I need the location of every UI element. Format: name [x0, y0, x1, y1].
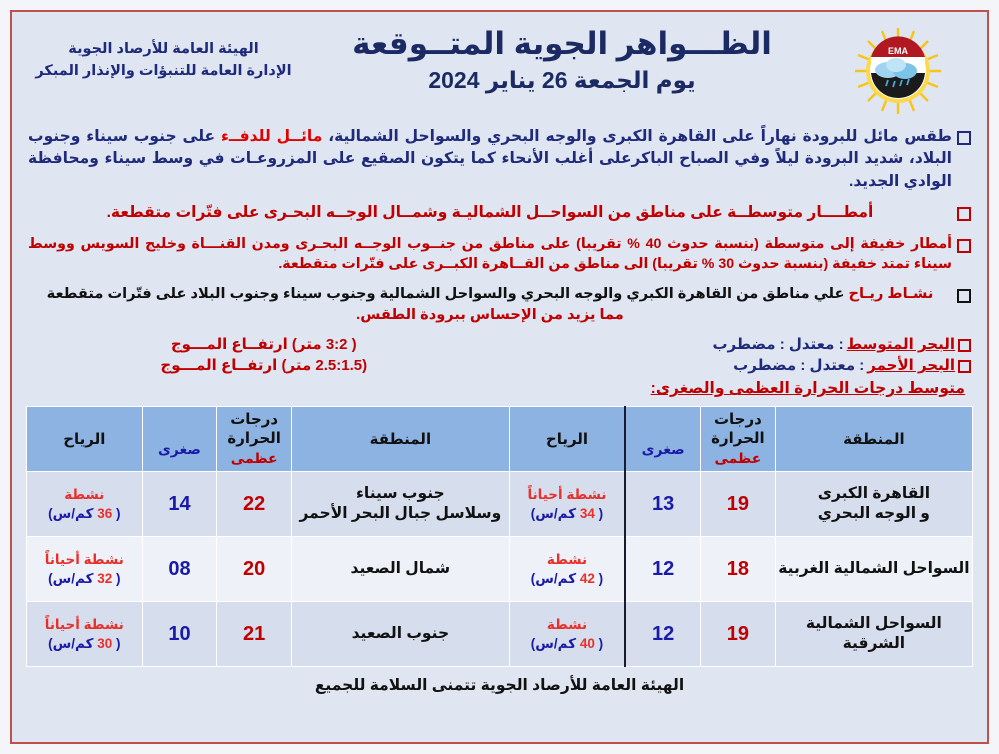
region-line-1: القاهرة الكبرى	[818, 485, 930, 502]
bullet-temperature: طقس مائل للبرودة نهاراً على القاهرة الكب…	[28, 126, 971, 193]
header-min-right: صغرى	[625, 407, 700, 472]
cell-min-right: 13	[625, 472, 700, 537]
wind-state: نشطة	[511, 616, 624, 634]
bullet-checkbox-icon	[958, 339, 971, 352]
wind-state: نشطة أحياناً	[28, 551, 141, 569]
header-temps-label-left: درجات الحرارة	[218, 411, 290, 449]
cell-wind-left: نشطة أحياناً ( 30 كم/س)	[27, 602, 143, 667]
org-line-1: الهيئة العامة للأرصاد الجوية	[26, 38, 301, 60]
cell-min-left: 10	[142, 602, 217, 667]
wind-speed-unit: كم/س	[53, 571, 94, 586]
sea-row-red: البحر الأحمر : معتدل : مضطرب (2.5:1.5 مت…	[28, 356, 971, 374]
wind-speed: ( 34 كم/س)	[511, 505, 624, 523]
wind-speed: ( 30 كم/س)	[28, 635, 141, 653]
forecast-table: المنطقة درجات الحرارة عظمى صغرى	[26, 406, 973, 667]
bullet-checkbox-icon	[957, 207, 971, 221]
header-min-label-right: صغرى	[642, 441, 685, 457]
cell-max-right: 19	[701, 602, 776, 667]
bullet-temperature-part1: طقس مائل للبرودة نهاراً على القاهرة الكب…	[322, 128, 952, 145]
sea-mediterranean-state: : معتدل : مضطرب	[712, 335, 843, 353]
bullet-list: طقس مائل للبرودة نهاراً على القاهرة الكب…	[22, 126, 977, 326]
cell-wind-right: نشطة أحياناً ( 34 كم/س)	[509, 472, 625, 537]
bullet-temperature-highlight: مائــل للدفــء	[221, 128, 322, 145]
header-max-right: درجات الحرارة عظمى	[701, 407, 776, 472]
sea-red-wave: (2.5:1.5 متر) ارتفــاع المـــوج	[28, 356, 500, 374]
sea-red-info: البحر الأحمر : معتدل : مضطرب	[500, 356, 972, 374]
wind-speed-number: 42	[580, 571, 595, 586]
wind-speed-number: 30	[97, 636, 112, 651]
header-region-right: المنطقة	[775, 407, 972, 472]
sea-conditions: البحر المتوسط : معتدل : مضطرب ( 3:2 متر)…	[22, 335, 977, 398]
bullet-rain-light-line2: تمتد خفيفة (بنسبة حدوث 30 % تقريبا) الى …	[278, 256, 910, 272]
cell-wind-left: نشطة ( 36 كم/س)	[27, 472, 143, 537]
bullet-checkbox-icon	[957, 239, 971, 253]
bullet-rain-light-text: أمطار خفيفة إلى متوسطة (بنسبة حدوث 40 % …	[28, 234, 952, 275]
bullet-wind-text: نشـاط ريـاح علي مناطق من القاهرة الكبري …	[28, 284, 952, 326]
wind-speed-unit: كم/س	[535, 506, 576, 521]
wind-speed-number: 36	[97, 506, 112, 521]
wind-speed-unit: كم/س	[53, 506, 94, 521]
bullet-checkbox-icon	[957, 131, 971, 145]
cell-region-right: السواحل الشمالية الغربية	[775, 537, 972, 602]
region-line-1: السواحل الشمالية الشرقية	[806, 615, 942, 652]
bullet-rain-moderate: أمطــــار متوسطــة على مناطق من السواحــ…	[28, 202, 971, 224]
cell-region-left: شمال الصعيد	[292, 537, 510, 602]
sea-mediterranean-info: البحر المتوسط : معتدل : مضطرب	[500, 335, 972, 353]
sea-mediterranean-wave-label: ارتفــاع المـــوج	[171, 336, 288, 353]
sea-red-wave-value: (2.5:1.5 متر)	[282, 357, 368, 374]
wind-speed-unit: كم/س	[53, 636, 94, 651]
bullet-checkbox-icon	[957, 289, 971, 303]
cell-wind-right: نشطة ( 40 كم/س)	[509, 602, 625, 667]
cell-max-left: 22	[217, 472, 292, 537]
header-region-left: المنطقة	[292, 407, 510, 472]
header-max-left: درجات الحرارة عظمى	[217, 407, 292, 472]
header-wind-right: الرياح	[509, 407, 625, 472]
table-row: القاهرة الكبرى و الوجه البحري 19 13 نشطة…	[27, 472, 973, 537]
region-line-1: جنوب الصعيد	[352, 625, 450, 642]
cell-region-left: جنوب سيناء وسلاسل جبال البحر الأحمر	[292, 472, 510, 537]
temperature-section-heading: متوسط درجات الحرارة العظمى والصغرى:	[28, 377, 971, 398]
page-subtitle: يوم الجمعة 26 يناير 2024	[301, 66, 823, 96]
wind-speed-unit: كم/س	[535, 571, 576, 586]
header-wind-left: الرياح	[27, 407, 143, 472]
table-row: السواحل الشمالية الشرقية 19 12 نشطة ( 40…	[27, 602, 973, 667]
region-line-2: وسلاسل جبال البحر الأحمر	[299, 505, 501, 522]
temperature-section-heading-text: متوسط درجات الحرارة العظمى والصغرى:	[651, 380, 965, 397]
ema-logo-icon: EMA	[850, 26, 946, 116]
forecast-table-wrapper: المنطقة درجات الحرارة عظمى صغرى	[22, 402, 977, 667]
cell-region-left: جنوب الصعيد	[292, 602, 510, 667]
forecast-frame: الهيئة العامة للأرصاد الجوية الإدارة الع…	[10, 10, 989, 744]
header-min-left: صغرى	[142, 407, 217, 472]
wind-state: نشطة أحياناً	[511, 486, 624, 504]
bullet-checkbox-icon	[958, 360, 971, 373]
bullet-rain-light: أمطار خفيفة إلى متوسطة (بنسبة حدوث 40 % …	[28, 234, 971, 275]
cell-max-left: 21	[217, 602, 292, 667]
cell-min-right: 12	[625, 602, 700, 667]
header-max-label-right: عظمى	[715, 450, 762, 466]
region-line-1: السواحل الشمالية الغربية	[778, 560, 969, 577]
wind-speed-number: 34	[580, 506, 595, 521]
bullet-wind-red-start: نشـاط ريـاح	[849, 286, 934, 302]
bullet-wind-last-line: مما يزيد من الإحساس ببرودة الطقس.	[28, 305, 952, 326]
header-min-label-left: صغرى	[158, 441, 201, 457]
cell-min-left: 14	[142, 472, 217, 537]
wind-speed-number: 40	[580, 636, 595, 651]
sea-row-mediterranean: البحر المتوسط : معتدل : مضطرب ( 3:2 متر)…	[28, 335, 971, 353]
sea-mediterranean-wave: ( 3:2 متر) ارتفــاع المـــوج	[28, 335, 500, 353]
sea-mediterranean-wave-value: ( 3:2 متر)	[292, 336, 357, 353]
wind-speed: ( 36 كم/س)	[28, 505, 141, 523]
cell-wind-left: نشطة أحياناً ( 32 كم/س)	[27, 537, 143, 602]
wind-speed: ( 32 كم/س)	[28, 570, 141, 588]
wind-state: نشطة	[511, 551, 624, 569]
cell-max-left: 20	[217, 537, 292, 602]
wind-state: نشطة أحياناً	[28, 616, 141, 634]
forecast-page: الهيئة العامة للأرصاد الجوية الإدارة الع…	[0, 0, 999, 754]
header-temps-label-right: درجات الحرارة	[702, 411, 774, 449]
sea-red-name: البحر الأحمر	[867, 356, 955, 374]
document-footer: الهيئة العامة للأرصاد الجوية تتمنى السلا…	[22, 667, 977, 695]
cell-min-left: 08	[142, 537, 217, 602]
sea-red-wave-label: ارتفــاع المـــوج	[160, 357, 277, 374]
logo-block: EMA	[823, 24, 973, 116]
sea-mediterranean-name: البحر المتوسط	[847, 335, 955, 353]
organization-block: الهيئة العامة للأرصاد الجوية الإدارة الع…	[26, 24, 301, 83]
cell-wind-right: نشطة ( 42 كم/س)	[509, 537, 625, 602]
table-header-row: المنطقة درجات الحرارة عظمى صغرى	[27, 407, 973, 472]
cell-max-right: 19	[701, 472, 776, 537]
bullet-wind: نشـاط ريـاح علي مناطق من القاهرة الكبري …	[28, 284, 971, 326]
forecast-table-body: القاهرة الكبرى و الوجه البحري 19 13 نشطة…	[27, 472, 973, 667]
bullet-wind-body: علي مناطق من القاهرة الكبري والوجه البحر…	[47, 286, 849, 302]
table-row: السواحل الشمالية الغربية 18 12 نشطة ( 42…	[27, 537, 973, 602]
wind-speed: ( 42 كم/س)	[511, 570, 624, 588]
wind-state: نشطة	[28, 486, 141, 504]
header-max-label-left: عظمى	[231, 450, 278, 466]
logo-text: EMA	[888, 46, 909, 56]
wind-speed-number: 32	[97, 571, 112, 586]
wind-speed: ( 40 كم/س)	[511, 635, 624, 653]
cell-region-right: السواحل الشمالية الشرقية	[775, 602, 972, 667]
forecast-table-head: المنطقة درجات الحرارة عظمى صغرى	[27, 407, 973, 472]
region-line-2: و الوجه البحري	[818, 505, 930, 522]
bullet-temperature-text: طقس مائل للبرودة نهاراً على القاهرة الكب…	[28, 126, 952, 193]
cell-max-right: 18	[701, 537, 776, 602]
bullet-rain-moderate-text: أمطــــار متوسطــة على مناطق من السواحــ…	[28, 202, 952, 224]
title-block: الظـــواهر الجوية المتــوقعة يوم الجمعة …	[301, 24, 823, 96]
org-line-2: الإدارة العامة للتنبؤات والإنذار المبكر	[26, 60, 301, 82]
document-header: الهيئة العامة للأرصاد الجوية الإدارة الع…	[22, 18, 977, 124]
wind-speed-unit: كم/س	[535, 636, 576, 651]
page-title: الظـــواهر الجوية المتــوقعة	[301, 26, 823, 62]
region-line-1: شمال الصعيد	[351, 560, 451, 577]
region-line-1: جنوب سيناء	[356, 485, 445, 502]
sea-red-state: : معتدل : مضطرب	[733, 356, 864, 374]
cell-min-right: 12	[625, 537, 700, 602]
cell-region-right: القاهرة الكبرى و الوجه البحري	[775, 472, 972, 537]
